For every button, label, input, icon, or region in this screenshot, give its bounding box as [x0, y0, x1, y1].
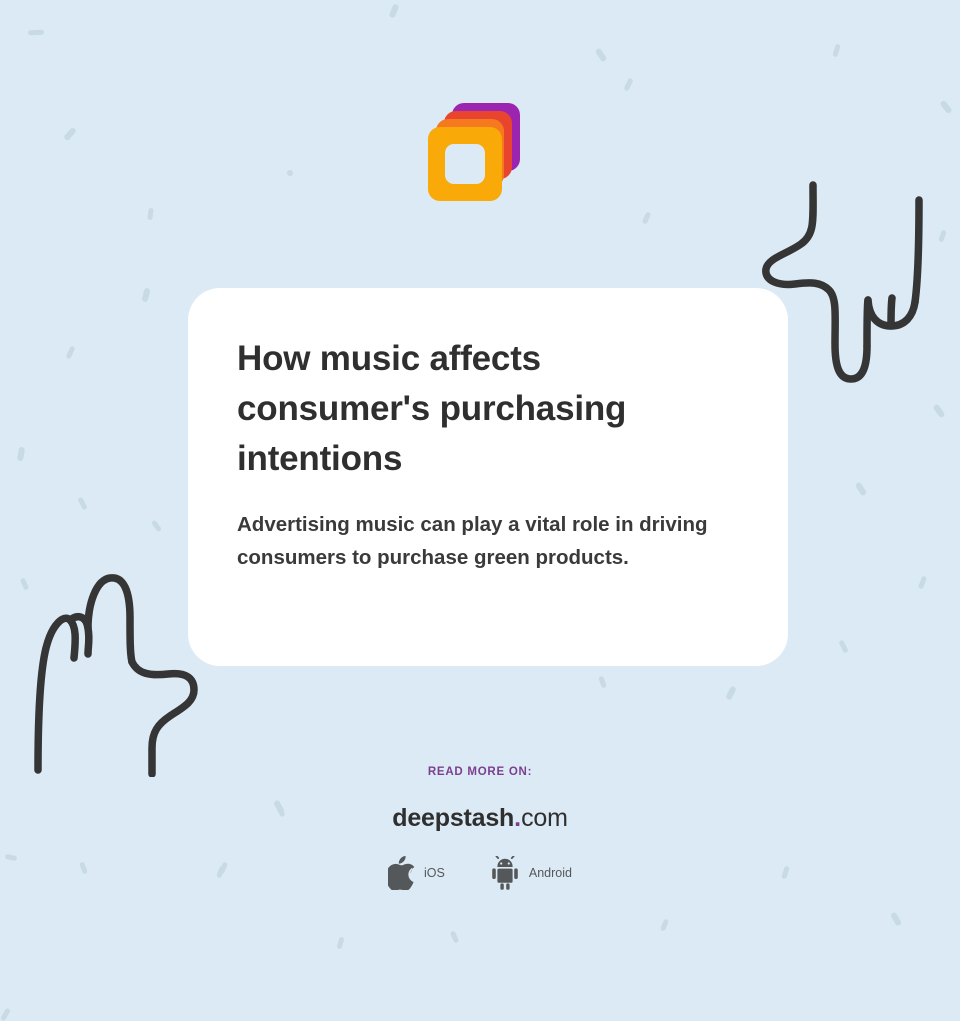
confetti-piece [595, 48, 608, 63]
confetti-piece [0, 1008, 11, 1021]
apple-icon [388, 856, 416, 890]
confetti-piece [389, 3, 400, 18]
hand-pointing-up-icon [22, 562, 207, 782]
confetti-piece [918, 576, 927, 590]
confetti-piece [66, 346, 76, 360]
confetti-piece [151, 520, 162, 533]
confetti-piece [725, 685, 737, 700]
confetti-piece [642, 212, 651, 225]
confetti-piece [832, 44, 840, 58]
confetti-piece [598, 676, 607, 689]
confetti-piece [28, 30, 44, 36]
wordmark-tld: com [521, 804, 568, 832]
deepstash-wordmark[interactable]: deepstash.com [0, 806, 960, 831]
ios-label: iOS [424, 866, 445, 880]
confetti-piece [336, 937, 344, 950]
read-more-label: READ MORE ON: [0, 766, 960, 778]
confetti-piece [147, 208, 154, 221]
confetti-piece [63, 127, 77, 141]
confetti-piece [77, 497, 88, 511]
confetti-piece [17, 447, 25, 462]
confetti-piece [890, 911, 902, 926]
confetti-piece [450, 931, 459, 944]
confetti-piece [141, 287, 150, 302]
card-body-text: Advertising music can play a vital role … [237, 508, 740, 574]
confetti-piece [939, 100, 952, 115]
confetti-piece [287, 170, 293, 176]
confetti-piece [838, 640, 848, 654]
deepstash-logo [428, 103, 520, 201]
wordmark-name: deepstash [392, 804, 514, 832]
android-store-badge[interactable]: Android [489, 856, 572, 890]
android-icon [489, 856, 521, 890]
confetti-piece [932, 404, 945, 419]
confetti-piece [660, 919, 669, 932]
confetti-piece [855, 482, 868, 497]
footer: READ MORE ON: deepstash.com iOS [0, 766, 960, 890]
card-title: How music affects consumer's purchasing … [237, 334, 740, 484]
logo-inner-cutout [445, 144, 485, 184]
android-label: Android [529, 866, 572, 880]
content-card: How music affects consumer's purchasing … [188, 288, 788, 666]
store-badges: iOS Android [0, 856, 960, 890]
ios-store-badge[interactable]: iOS [388, 856, 445, 890]
confetti-piece [623, 78, 633, 92]
